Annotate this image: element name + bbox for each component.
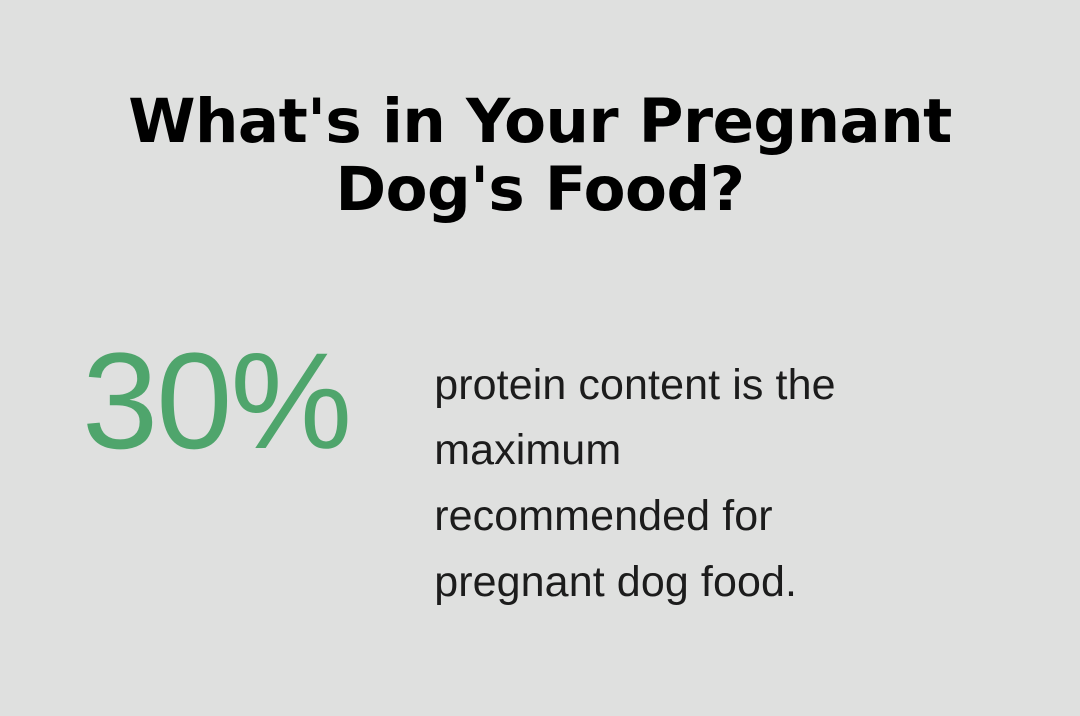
infographic-card: What's in Your Pregnant Dog's Food? 30% … [0,0,1080,716]
headline-container: What's in Your Pregnant Dog's Food? [0,0,1080,225]
stat-row: 30% protein content is the maximum recom… [0,337,1080,616]
page-title: What's in Your Pregnant Dog's Food? [95,88,985,225]
stat-description: protein content is the maximum recommend… [434,337,906,616]
stat-percentage-value: 30% [82,337,350,465]
